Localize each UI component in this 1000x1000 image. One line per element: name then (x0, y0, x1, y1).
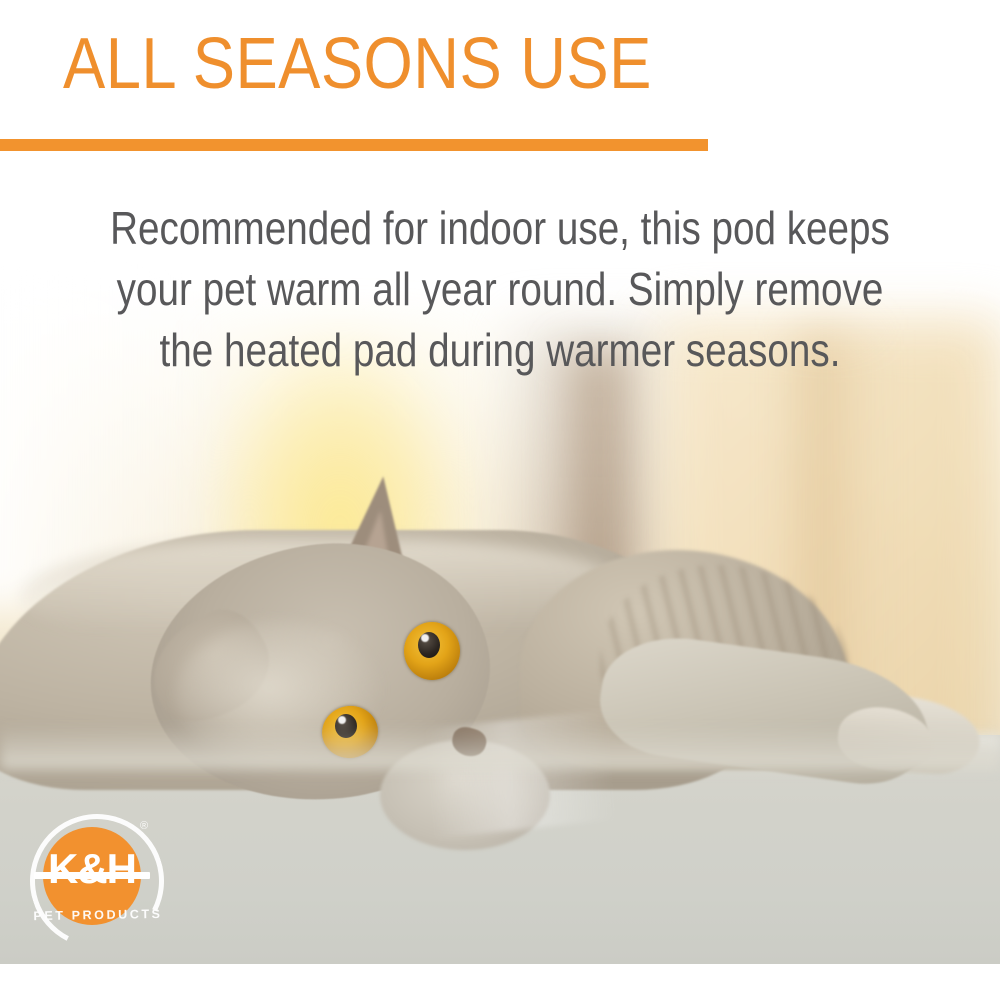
registered-trademark-icon: ® (140, 820, 148, 832)
orange-rule-divider (0, 139, 708, 151)
description-line-3: the heated pad during warmer seasons. (80, 320, 920, 381)
cat-eye-glint-lower (338, 716, 346, 724)
bottom-white-margin (0, 964, 1000, 1000)
product-feature-banner: ALL SEASONS USE Recommended for indoor u… (0, 0, 1000, 1000)
page-title: ALL SEASONS USE (63, 28, 652, 100)
cat-eye-glint-upper (421, 634, 429, 642)
brand-logo: K&H ® PET PRODUCTS (28, 812, 168, 952)
cat-fur-floor-blend (0, 725, 1000, 769)
cat-figure (0, 470, 1000, 790)
description-line-2: your pet warm all year round. Simply rem… (80, 259, 920, 320)
description-line-1: Recommended for indoor use, this pod kee… (80, 198, 920, 259)
logo-wordmark: K&H (43, 848, 141, 890)
logo-tagline: PET PRODUCTS (28, 907, 168, 923)
description-paragraph: Recommended for indoor use, this pod kee… (80, 198, 920, 382)
